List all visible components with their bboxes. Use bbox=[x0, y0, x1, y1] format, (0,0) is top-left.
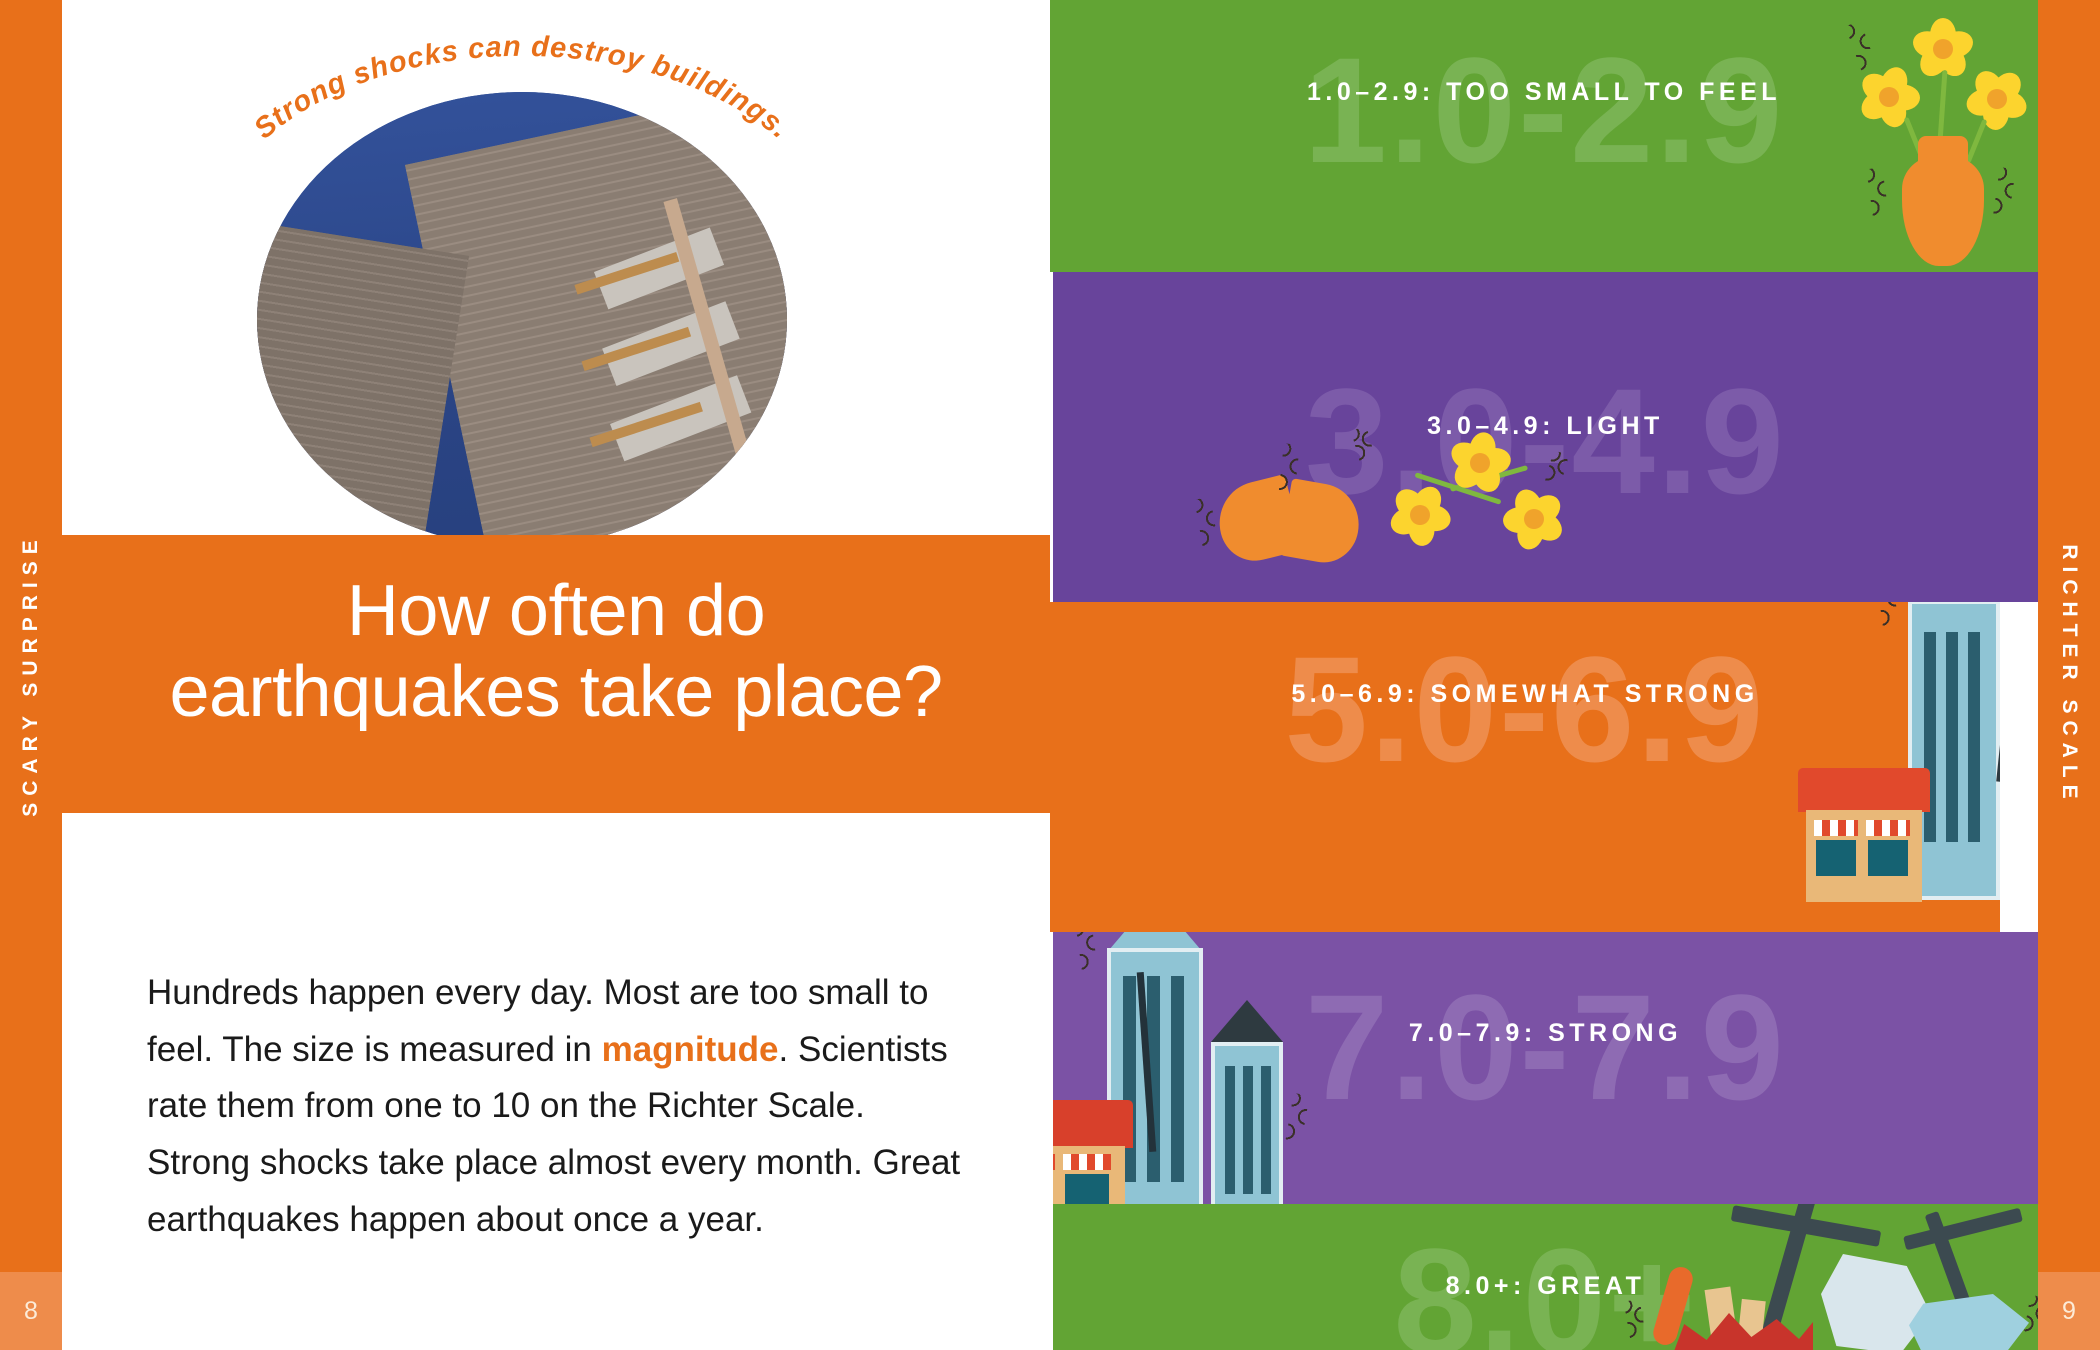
damaged-building-photo bbox=[257, 92, 787, 547]
flower-stem bbox=[1937, 70, 1947, 142]
left-page-number: 8 bbox=[0, 1272, 62, 1350]
right-side-tab-label: RICHTER SCALE bbox=[2057, 544, 2081, 805]
shop-roof bbox=[1798, 768, 1930, 812]
richter-band-7-0-7-9: 7.0-7.9 7.0–7.9: STRONG bbox=[1053, 932, 2038, 1204]
richter-band-1-0-2-9: 1.0-2.9 1.0–2.9: TOO SMALL TO FEEL bbox=[1050, 0, 2038, 272]
headline-band: How often do earthquakes take place? bbox=[62, 535, 1050, 813]
shake-lines-icon bbox=[1624, 1299, 1647, 1341]
left-side-tab: SCARY SURPRISE bbox=[0, 0, 62, 1350]
shop-building bbox=[1053, 1146, 1125, 1204]
short-damaged-tower bbox=[1211, 1042, 1283, 1204]
shake-lines-icon bbox=[1845, 21, 1879, 77]
glossary-term-magnitude: magnitude bbox=[602, 1030, 779, 1069]
spilled-flowers-illustration bbox=[1353, 422, 1633, 592]
shake-lines-icon bbox=[1351, 426, 1375, 461]
richter-band-3-0-4-9: 3.0-4.9 3.0–4.9: LIGHT bbox=[1053, 272, 2038, 602]
headline-line-1: How often do bbox=[62, 571, 1050, 652]
shake-lines-icon bbox=[1876, 602, 1899, 633]
page-title: How often do earthquakes take place? bbox=[62, 571, 1050, 732]
shop-roof bbox=[1053, 1100, 1133, 1148]
shake-lines-icon bbox=[1194, 497, 1219, 553]
damaged-city-illustration bbox=[1053, 932, 1293, 1204]
shake-lines-icon bbox=[1992, 167, 2015, 223]
rubble-rock bbox=[1909, 1294, 2029, 1350]
photo-fire-escape bbox=[257, 380, 272, 514]
body-paragraph: Hundreds happen every day. Most are too … bbox=[147, 965, 977, 1248]
shake-lines-icon bbox=[1545, 450, 1569, 485]
right-page-number: 9 bbox=[2038, 1272, 2100, 1350]
broken-vase-illustration bbox=[1053, 440, 1333, 600]
shake-lines-icon bbox=[2024, 1295, 2038, 1337]
tower-roof-icon bbox=[1211, 1000, 1283, 1042]
shake-lines-icon bbox=[1866, 167, 1889, 223]
richter-band-5-0-6-9: 5.0-6.9 5.0–6.9: SOMEWHAT STRONG bbox=[1050, 602, 2000, 932]
richter-scale-chart: 1.0-2.9 1.0–2.9: TOO SMALL TO FEEL bbox=[1050, 0, 2100, 1350]
richter-band-8-0-plus: 8.0+ 8.0+: GREAT bbox=[1053, 1204, 2038, 1350]
left-page: Strong shocks can destroy buildings. How… bbox=[62, 0, 1050, 1350]
fallen-beam bbox=[1903, 1208, 2023, 1251]
intact-vase-illustration bbox=[1850, 18, 2038, 268]
shop-building bbox=[1806, 810, 1922, 902]
left-side-tab-label: SCARY SURPRISE bbox=[19, 533, 43, 817]
flower-icon bbox=[1389, 484, 1451, 546]
flower-icon bbox=[1449, 432, 1511, 494]
book-spread: SCARY SURPRISE 8 bbox=[0, 0, 2100, 1350]
right-side-tab: RICHTER SCALE bbox=[2038, 0, 2100, 1350]
flower-icon bbox=[1966, 68, 2028, 130]
headline-line-2: earthquakes take place? bbox=[62, 652, 1050, 733]
shake-lines-icon bbox=[1075, 932, 1098, 977]
vase-body bbox=[1902, 156, 1984, 266]
cracked-city-illustration bbox=[1790, 602, 2000, 932]
flower-icon bbox=[1503, 488, 1565, 550]
rubble-illustration bbox=[1613, 1208, 2038, 1350]
